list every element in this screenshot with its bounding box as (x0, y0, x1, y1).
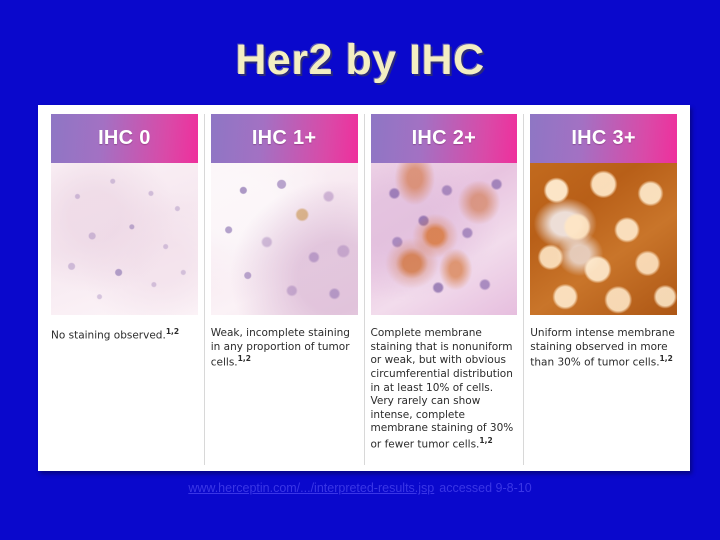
slide: Her2 by IHC IHC 0 No staining observed.1… (0, 0, 720, 540)
ihc-2plus-micrograph-image (371, 163, 518, 315)
caption-text-ihc-2plus: Complete membrane staining that is nonun… (371, 327, 514, 451)
caption-text-ihc-1plus: Weak, incomplete staining in any proport… (211, 327, 350, 369)
panel-header-ihc-0: IHC 0 (51, 114, 198, 163)
ihc-0-micrograph (51, 163, 198, 315)
panel-ihc-0: IHC 0 No staining observed.1,2 (45, 114, 205, 465)
panel-ihc-3plus: IHC 3+ Uniform intense membrane staining… (524, 114, 683, 465)
ihc-scoring-figure: IHC 0 No staining observed.1,2 IHC 1+ We… (38, 105, 690, 471)
caption-refs-ihc-1plus: 1,2 (238, 354, 251, 363)
ihc-3plus-micrograph (530, 163, 677, 315)
panel-header-ihc-3plus: IHC 3+ (530, 114, 677, 163)
source-link[interactable]: www.herceptin.com/.../interpreted-result… (188, 481, 434, 495)
panel-header-ihc-1plus: IHC 1+ (211, 114, 358, 163)
panel-caption-ihc-3plus: Uniform intense membrane staining observ… (530, 327, 677, 465)
panel-ihc-1plus: IHC 1+ Weak, incomplete staining in any … (205, 114, 365, 465)
ihc-1plus-micrograph (211, 163, 358, 315)
caption-text-ihc-0: No staining observed. (51, 330, 166, 342)
page-title: Her2 by IHC (0, 36, 720, 85)
ihc-0-micrograph-image (51, 163, 198, 315)
source-citation: www.herceptin.com/.../interpreted-result… (0, 481, 720, 495)
caption-text-ihc-3plus: Uniform intense membrane staining observ… (530, 327, 675, 369)
caption-refs-ihc-3plus: 1,2 (660, 354, 673, 363)
ihc-3plus-micrograph-image (530, 163, 677, 315)
panel-caption-ihc-0: No staining observed.1,2 (51, 327, 198, 465)
source-accessed-date: accessed 9-8-10 (439, 481, 531, 495)
caption-refs-ihc-0: 1,2 (166, 327, 179, 336)
panel-caption-ihc-1plus: Weak, incomplete staining in any proport… (211, 327, 358, 465)
panel-header-ihc-2plus: IHC 2+ (371, 114, 518, 163)
ihc-2plus-micrograph (371, 163, 518, 315)
ihc-1plus-micrograph-image (211, 163, 358, 315)
panel-caption-ihc-2plus: Complete membrane staining that is nonun… (371, 327, 518, 465)
caption-refs-ihc-2plus: 1,2 (479, 436, 492, 445)
panel-ihc-2plus: IHC 2+ Complete membrane staining that i… (365, 114, 525, 465)
